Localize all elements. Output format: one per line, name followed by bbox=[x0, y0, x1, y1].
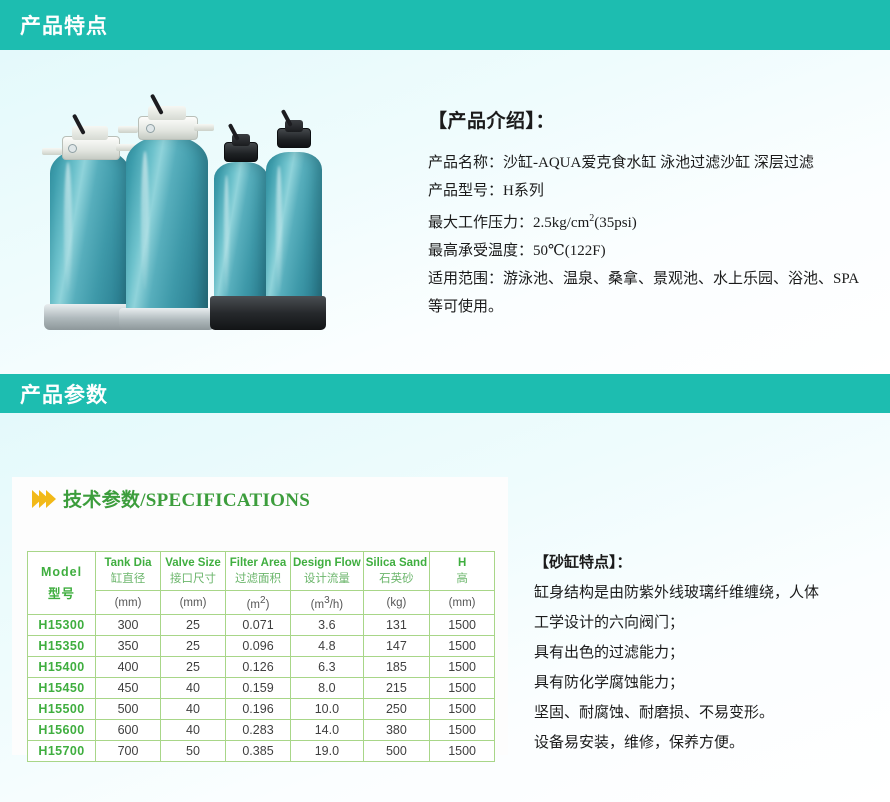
header-height: H 高 bbox=[430, 552, 495, 591]
table-row: H15600 600 40 0.283 14.0 380 1500 bbox=[28, 720, 495, 741]
section-title-params: 产品参数 bbox=[20, 379, 108, 409]
cell-design-flow: 8.0 bbox=[291, 678, 364, 699]
cell-tank-dia: 700 bbox=[96, 741, 161, 762]
cell-design-flow: 14.0 bbox=[291, 720, 364, 741]
section-bar-params: 产品参数 bbox=[0, 374, 890, 413]
cell-silica-sand: 500 bbox=[363, 741, 429, 762]
table-row: H15300 300 25 0.071 3.6 131 1500 bbox=[28, 615, 495, 636]
intro-max-pressure: 最大工作压力：2.5kg/cm2(35psi) bbox=[428, 205, 874, 237]
cell-height: 1500 bbox=[430, 615, 495, 636]
cell-design-flow: 3.6 bbox=[291, 615, 364, 636]
unit-valve-size: (mm) bbox=[161, 591, 226, 615]
intro-heading: 【产品介绍】： bbox=[428, 106, 874, 133]
cell-silica-sand: 215 bbox=[363, 678, 429, 699]
table-row: H15400 400 25 0.126 6.3 185 1500 bbox=[28, 657, 495, 678]
table-header-row: Model 型号 Tank Dia 缸直径 Valve Size 接口尺寸 Fi… bbox=[28, 552, 495, 591]
header-model: Model 型号 bbox=[28, 552, 96, 615]
table-row: H15700 700 50 0.385 19.0 500 1500 bbox=[28, 741, 495, 762]
feature-line: 设备易安装，维修，保养方便。 bbox=[534, 728, 884, 758]
cell-height: 1500 bbox=[430, 741, 495, 762]
header-design-flow: Design Flow 设计流量 bbox=[291, 552, 364, 591]
cell-filter-area: 0.096 bbox=[226, 636, 291, 657]
spec-title: 技术参数/SPECIFICATIONS bbox=[63, 485, 310, 512]
header-filter-area: Filter Area 过滤面积 bbox=[226, 552, 291, 591]
cell-design-flow: 6.3 bbox=[291, 657, 364, 678]
feature-line: 工学设计的六向阀门； bbox=[534, 608, 884, 638]
cell-model: H15600 bbox=[28, 720, 96, 741]
intro-max-temperature: 最高承受温度：50℃(122F) bbox=[428, 237, 874, 265]
tank-image-2 bbox=[126, 106, 208, 328]
cell-height: 1500 bbox=[430, 657, 495, 678]
feature-line: 具有出色的过滤能力； bbox=[534, 638, 884, 668]
cell-model: H15400 bbox=[28, 657, 96, 678]
product-introduction: 【产品介绍】： 产品名称：沙缸-AQUA爱克食水缸 泳池过滤沙缸 深层过滤 产品… bbox=[428, 106, 874, 321]
cell-height: 1500 bbox=[430, 636, 495, 657]
cell-silica-sand: 131 bbox=[363, 615, 429, 636]
cell-tank-dia: 600 bbox=[96, 720, 161, 741]
cell-model: H15300 bbox=[28, 615, 96, 636]
header-model-cn: 型号 bbox=[48, 587, 75, 601]
cell-design-flow: 19.0 bbox=[291, 741, 364, 762]
cell-silica-sand: 147 bbox=[363, 636, 429, 657]
cell-height: 1500 bbox=[430, 720, 495, 741]
tank-image-1 bbox=[50, 122, 130, 328]
features-heading: 【砂缸特点】： bbox=[534, 548, 884, 578]
table-row: H15450 450 40 0.159 8.0 215 1500 bbox=[28, 678, 495, 699]
cell-filter-area: 0.196 bbox=[226, 699, 291, 720]
table-units-row: (mm) (mm) (m2) (m3/h) (kg) (mm) bbox=[28, 591, 495, 615]
specifications-table: Model 型号 Tank Dia 缸直径 Valve Size 接口尺寸 Fi… bbox=[27, 551, 495, 762]
unit-design-flow: (m3/h) bbox=[291, 591, 364, 615]
cell-tank-dia: 500 bbox=[96, 699, 161, 720]
feature-line: 坚固、耐腐蚀、耐磨损、不易变形。 bbox=[534, 698, 884, 728]
cell-silica-sand: 250 bbox=[363, 699, 429, 720]
unit-height: (mm) bbox=[430, 591, 495, 615]
cell-tank-dia: 350 bbox=[96, 636, 161, 657]
pressure-tail: (35psi) bbox=[594, 215, 637, 231]
table-row: H15500 500 40 0.196 10.0 250 1500 bbox=[28, 699, 495, 720]
cell-tank-dia: 450 bbox=[96, 678, 161, 699]
unit-silica-sand: (kg) bbox=[363, 591, 429, 615]
cell-filter-area: 0.159 bbox=[226, 678, 291, 699]
cell-valve-size: 50 bbox=[161, 741, 226, 762]
unit-tank-dia: (mm) bbox=[96, 591, 161, 615]
cell-silica-sand: 185 bbox=[363, 657, 429, 678]
cell-model: H15350 bbox=[28, 636, 96, 657]
cell-valve-size: 40 bbox=[161, 678, 226, 699]
feature-line: 缸身结构是由防紫外线玻璃纤维缠绕，人体 bbox=[534, 578, 884, 608]
tank-image-3 bbox=[214, 132, 268, 328]
header-silica-sand: Silica Sand 石英砂 bbox=[363, 552, 429, 591]
cell-filter-area: 0.385 bbox=[226, 741, 291, 762]
cell-design-flow: 10.0 bbox=[291, 699, 364, 720]
spec-title-row: 技术参数/SPECIFICATIONS bbox=[32, 485, 310, 512]
cell-height: 1500 bbox=[430, 699, 495, 720]
header-tank-dia: Tank Dia 缸直径 bbox=[96, 552, 161, 591]
tank-image-4 bbox=[266, 120, 322, 328]
header-model-en: Model bbox=[41, 565, 82, 579]
cell-design-flow: 4.8 bbox=[291, 636, 364, 657]
table-row: H15350 350 25 0.096 4.8 147 1500 bbox=[28, 636, 495, 657]
cell-filter-area: 0.126 bbox=[226, 657, 291, 678]
intro-model: 产品型号：H系列 bbox=[428, 177, 874, 205]
cell-model: H15700 bbox=[28, 741, 96, 762]
cell-valve-size: 40 bbox=[161, 720, 226, 741]
cell-tank-dia: 400 bbox=[96, 657, 161, 678]
cell-valve-size: 25 bbox=[161, 636, 226, 657]
cell-height: 1500 bbox=[430, 678, 495, 699]
product-photo bbox=[38, 88, 358, 328]
cell-valve-size: 25 bbox=[161, 657, 226, 678]
header-valve-size: Valve Size 接口尺寸 bbox=[161, 552, 226, 591]
intro-application-scope: 适用范围：游泳池、温泉、桑拿、景观池、水上乐园、浴池、SPA等可使用。 bbox=[428, 265, 874, 321]
cell-valve-size: 40 bbox=[161, 699, 226, 720]
cell-filter-area: 0.283 bbox=[226, 720, 291, 741]
cell-valve-size: 25 bbox=[161, 615, 226, 636]
section-title-features: 产品特点 bbox=[20, 10, 108, 40]
tank-features-list: 【砂缸特点】： 缸身结构是由防紫外线玻璃纤维缠绕，人体 工学设计的六向阀门； 具… bbox=[534, 548, 884, 758]
unit-filter-area: (m2) bbox=[226, 591, 291, 615]
cell-filter-area: 0.071 bbox=[226, 615, 291, 636]
cell-model: H15500 bbox=[28, 699, 96, 720]
cell-tank-dia: 300 bbox=[96, 615, 161, 636]
feature-line: 具有防化学腐蚀能力； bbox=[534, 668, 884, 698]
cell-silica-sand: 380 bbox=[363, 720, 429, 741]
pressure-label: 最大工作压力：2.5kg/cm bbox=[428, 215, 589, 231]
section-bar-features: 产品特点 bbox=[0, 0, 890, 50]
intro-product-name: 产品名称：沙缸-AQUA爱克食水缸 泳池过滤沙缸 深层过滤 bbox=[428, 149, 874, 177]
chevrons-right-icon bbox=[32, 490, 53, 508]
cell-model: H15450 bbox=[28, 678, 96, 699]
